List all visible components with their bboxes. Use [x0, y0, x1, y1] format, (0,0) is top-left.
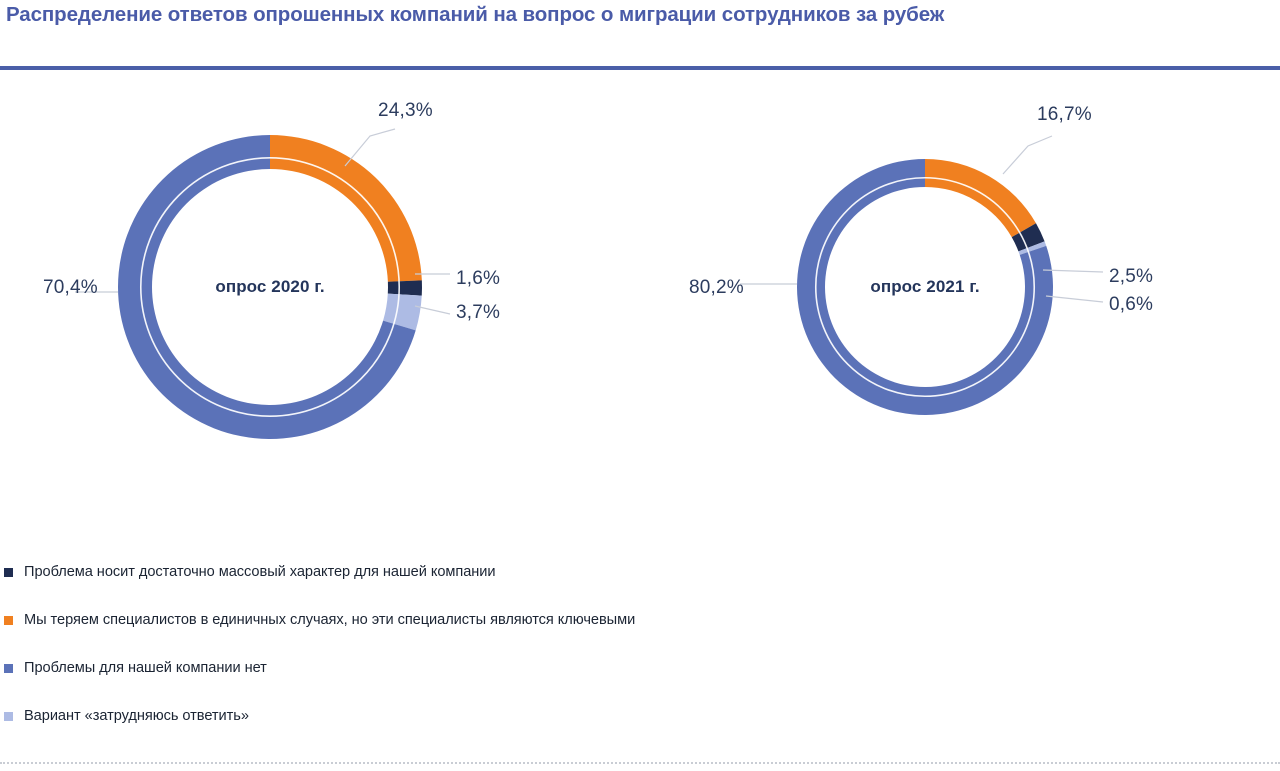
legend: Проблема носит достаточно массовый харак…	[0, 548, 900, 740]
charts-container: опрос 2020 г. 24,3% 1,6% 3,7% 70,4% опро…	[0, 74, 1280, 494]
legend-swatch-icon	[4, 712, 13, 721]
legend-item-zatrudnyayus[interactable]: Вариант «затрудняюсь ответить»	[0, 692, 900, 740]
legend-item-edinichnye[interactable]: Мы теряем специалистов в единичных случа…	[0, 596, 900, 644]
donut-2021-label-orange: 16,7%	[1037, 104, 1092, 126]
legend-swatch-icon	[4, 616, 13, 625]
donut-chart-2021: опрос 2021 г. 16,7% 2,5% 0,6% 80,2%	[660, 74, 1280, 494]
donut-segment[interactable]	[925, 159, 1036, 237]
title-divider	[0, 66, 1280, 70]
donut-segment[interactable]	[388, 280, 422, 295]
legend-swatch-icon	[4, 664, 13, 673]
legend-item-label: Проблема носит достаточно массовый харак…	[24, 564, 496, 580]
donut-2020-center-label: опрос 2020 г.	[215, 277, 324, 297]
donut-2020-label-navy: 1,6%	[456, 268, 500, 290]
donut-2020-label-blue: 70,4%	[43, 277, 98, 299]
slide-root: Распределение ответов опрошенных компани…	[0, 0, 1280, 771]
donut-2021-label-light: 0,6%	[1109, 294, 1153, 316]
leader-line	[1046, 296, 1103, 302]
donut-2021-label-blue: 80,2%	[689, 277, 744, 299]
footer-divider	[0, 762, 1280, 764]
donut-2020-label-light: 3,7%	[456, 302, 500, 324]
donut-2020-label-orange: 24,3%	[378, 100, 433, 122]
legend-item-label: Вариант «затрудняюсь ответить»	[24, 708, 249, 724]
legend-swatch-icon	[4, 568, 13, 577]
page-title: Распределение ответов опрошенных компани…	[6, 2, 1206, 28]
donut-chart-2020: опрос 2020 г. 24,3% 1,6% 3,7% 70,4%	[0, 74, 620, 494]
legend-item-massovyy[interactable]: Проблема носит достаточно массовый харак…	[0, 548, 900, 596]
donut-2021-label-navy: 2,5%	[1109, 266, 1153, 288]
leader-line	[1003, 136, 1052, 174]
donut-2021-center-label: опрос 2021 г.	[870, 277, 979, 297]
legend-item-net-problem[interactable]: Проблемы для нашей компании нет	[0, 644, 900, 692]
legend-item-label: Проблемы для нашей компании нет	[24, 660, 267, 676]
legend-item-label: Мы теряем специалистов в единичных случа…	[24, 612, 635, 628]
donut-segment[interactable]	[270, 135, 422, 282]
